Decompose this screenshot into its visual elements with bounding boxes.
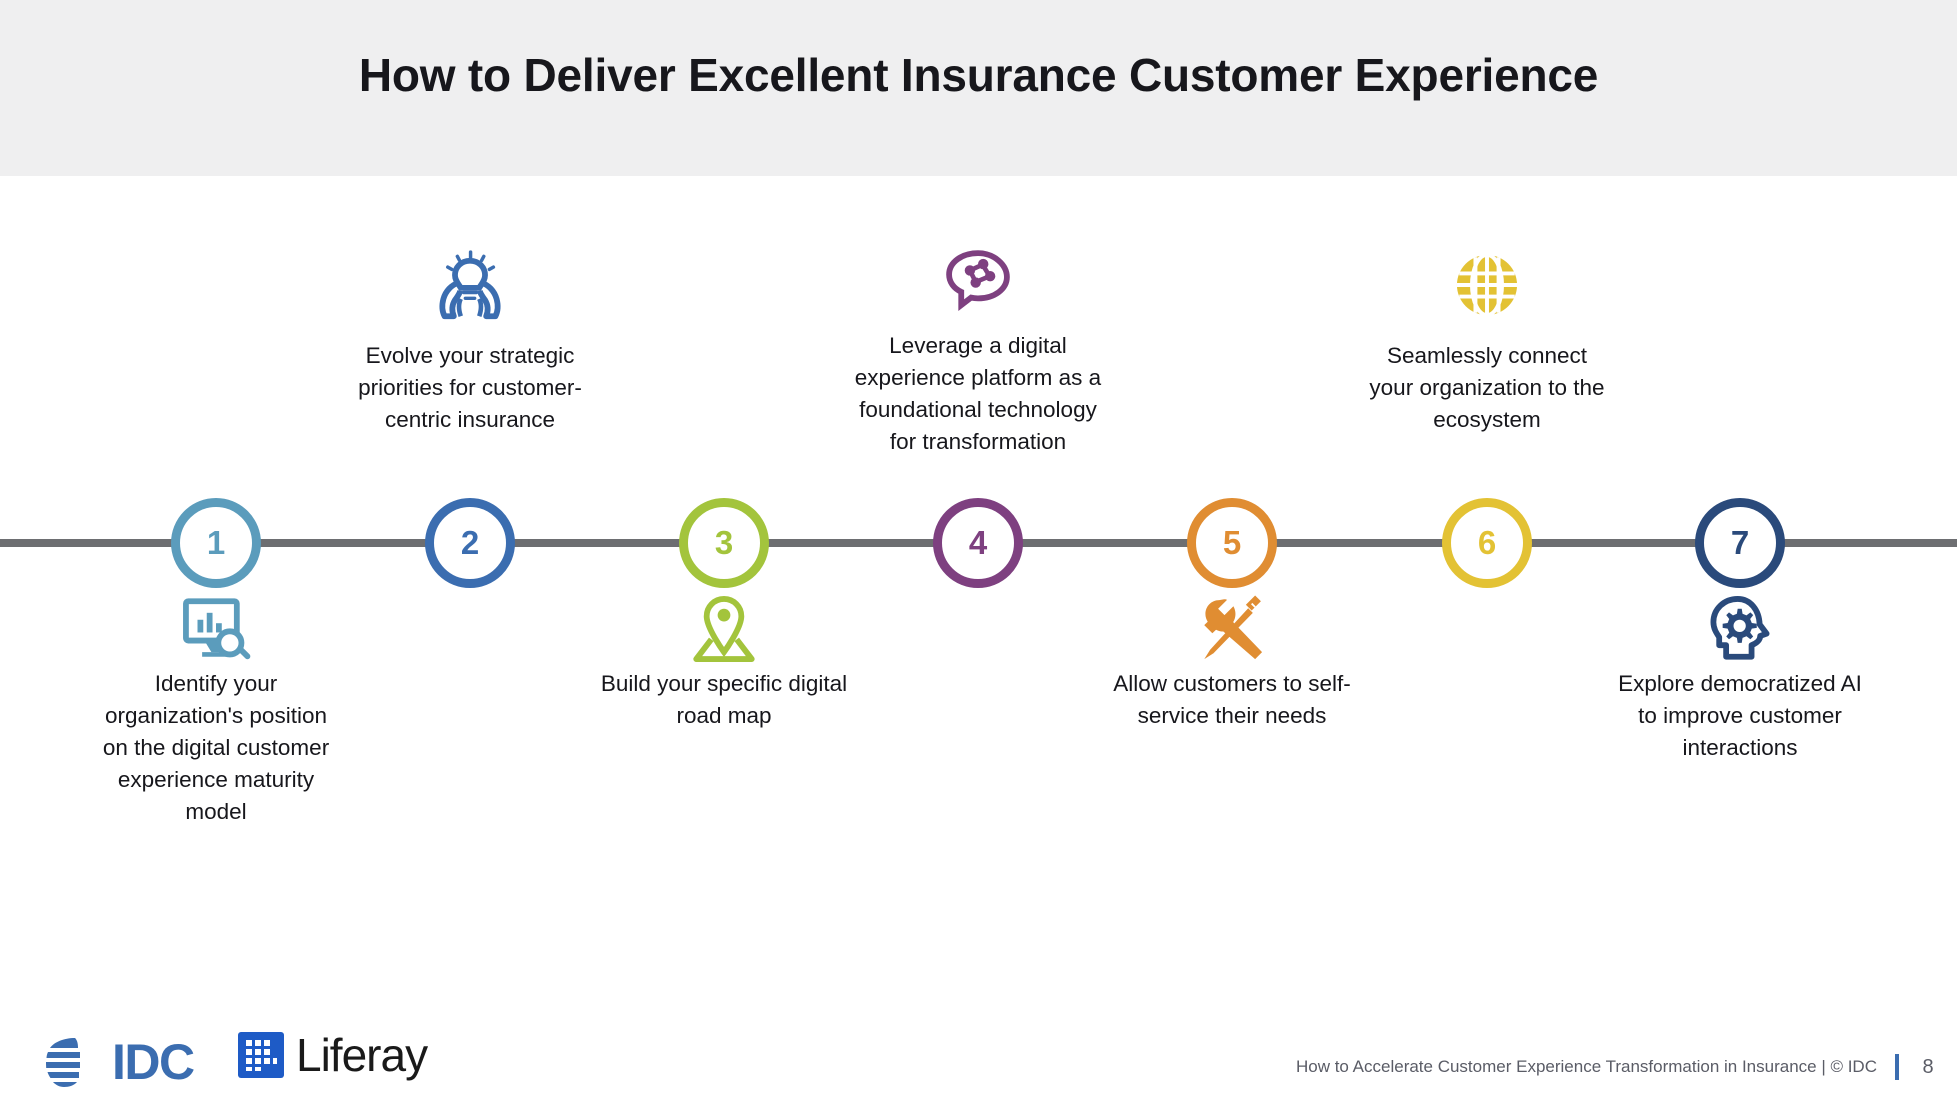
step-caption-5: Allow customers to self-service their ne… — [1107, 668, 1357, 732]
idc-globe-icon — [44, 1034, 106, 1090]
footer-document-title: How to Accelerate Customer Experience Tr… — [1296, 1057, 1877, 1077]
step-node-7[interactable]: 7 — [1695, 498, 1785, 588]
step-caption-6: Seamlessly connect your organization to … — [1362, 340, 1612, 436]
step-caption-4: Leverage a digital experience platform a… — [853, 330, 1103, 458]
footer-meta: How to Accelerate Customer Experience Tr… — [1296, 1054, 1935, 1080]
brain-network-icon — [941, 245, 1015, 319]
step-node-6[interactable]: 6 — [1442, 498, 1532, 588]
step-caption-2: Evolve your strategic priorities for cus… — [345, 340, 595, 436]
step-node-1[interactable]: 1 — [171, 498, 261, 588]
step-node-2[interactable]: 2 — [425, 498, 515, 588]
step-caption-3: Build your specific digital road map — [599, 668, 849, 732]
tools-wrench-screwdriver-icon — [1195, 592, 1269, 666]
step-number-2: 2 — [461, 526, 479, 559]
chart-monitor-search-icon — [179, 592, 253, 666]
map-pin-icon — [687, 592, 761, 666]
idc-logo: IDC — [44, 1034, 194, 1090]
step-node-3[interactable]: 3 — [679, 498, 769, 588]
liferay-logo: Liferay — [238, 1032, 427, 1078]
footer: IDC Lifera — [0, 1020, 1957, 1102]
liferay-mark-icon — [238, 1032, 284, 1078]
liferay-logo-text: Liferay — [296, 1032, 427, 1078]
idc-logo-text: IDC — [112, 1037, 194, 1087]
step-node-5[interactable]: 5 — [1187, 498, 1277, 588]
step-caption-7: Explore democratized AI to improve custo… — [1615, 668, 1865, 764]
head-gear-ai-icon — [1703, 592, 1777, 666]
step-caption-1: Identify your organization's position on… — [91, 668, 341, 828]
timeline-step-7[interactable]: 7 Explore democratized AI to improve cus… — [1590, 0, 1890, 1102]
step-number-7: 7 — [1731, 526, 1749, 559]
slide-canvas: How to Deliver Excellent Insurance Custo… — [0, 0, 1957, 1102]
step-node-4[interactable]: 4 — [933, 498, 1023, 588]
footer-separator — [1895, 1054, 1899, 1080]
step-number-4: 4 — [969, 526, 987, 559]
hands-lightbulb-icon — [433, 248, 507, 322]
step-number-1: 1 — [207, 526, 225, 559]
step-number-5: 5 — [1223, 526, 1241, 559]
step-number-6: 6 — [1478, 526, 1496, 559]
page-number: 8 — [1921, 1056, 1935, 1079]
globe-grid-icon — [1450, 248, 1524, 322]
step-number-3: 3 — [715, 526, 733, 559]
